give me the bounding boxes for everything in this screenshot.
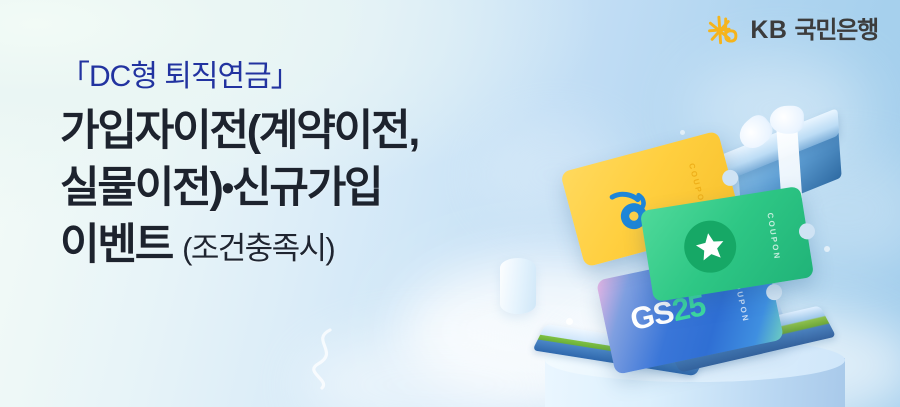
sparkle-dot <box>824 246 830 252</box>
kb-logo-text-en: KB <box>750 18 787 43</box>
star-badge <box>680 217 739 276</box>
ticket-notch <box>765 283 784 302</box>
headline: 가입자이전(계약이전, 실물이전)•신규가입 이벤트(조건충족시) <box>60 103 418 273</box>
headline-line-1: 가입자이전(계약이전, <box>60 103 418 160</box>
headline-bullet: • <box>222 167 232 208</box>
ticket-notch <box>798 222 816 240</box>
headline-line-2-part-b: 신규가입 <box>232 164 381 212</box>
headline-note: (조건충족시) <box>182 231 334 266</box>
copy-block: 「DC형 퇴직연금」 가입자이전(계약이전, 실물이전)•신규가입 이벤트(조건… <box>60 60 418 273</box>
kb-asterisk-icon <box>707 13 741 47</box>
headline-line-2-part-a: 실물이전) <box>60 164 222 212</box>
headline-line-2: 실물이전)•신규가입 <box>60 160 418 217</box>
headline-line-3: 이벤트(조건충족시) <box>60 217 418 274</box>
kb-logo-text: KB 국민은행 <box>750 18 878 43</box>
event-banner: KB 국민은행 「DC형 퇴직연금」 가입자이전(계약이전, 실물이전)•신규가… <box>0 0 900 407</box>
coupon-label: COUPON <box>765 212 781 261</box>
gift-box-bow <box>770 106 804 134</box>
eyebrow-text: 「DC형 퇴직연금」 <box>60 60 418 93</box>
sparkle-dot <box>680 130 685 135</box>
headline-line-3-main: 이벤트 <box>60 221 172 269</box>
squiggle-decoration <box>300 328 346 390</box>
gs25-brand-part-a: GS <box>627 294 676 337</box>
kb-logo-text-kr: 국민은행 <box>794 19 878 43</box>
kb-logo[interactable]: KB 국민은행 <box>707 13 878 47</box>
star-icon <box>692 228 729 265</box>
